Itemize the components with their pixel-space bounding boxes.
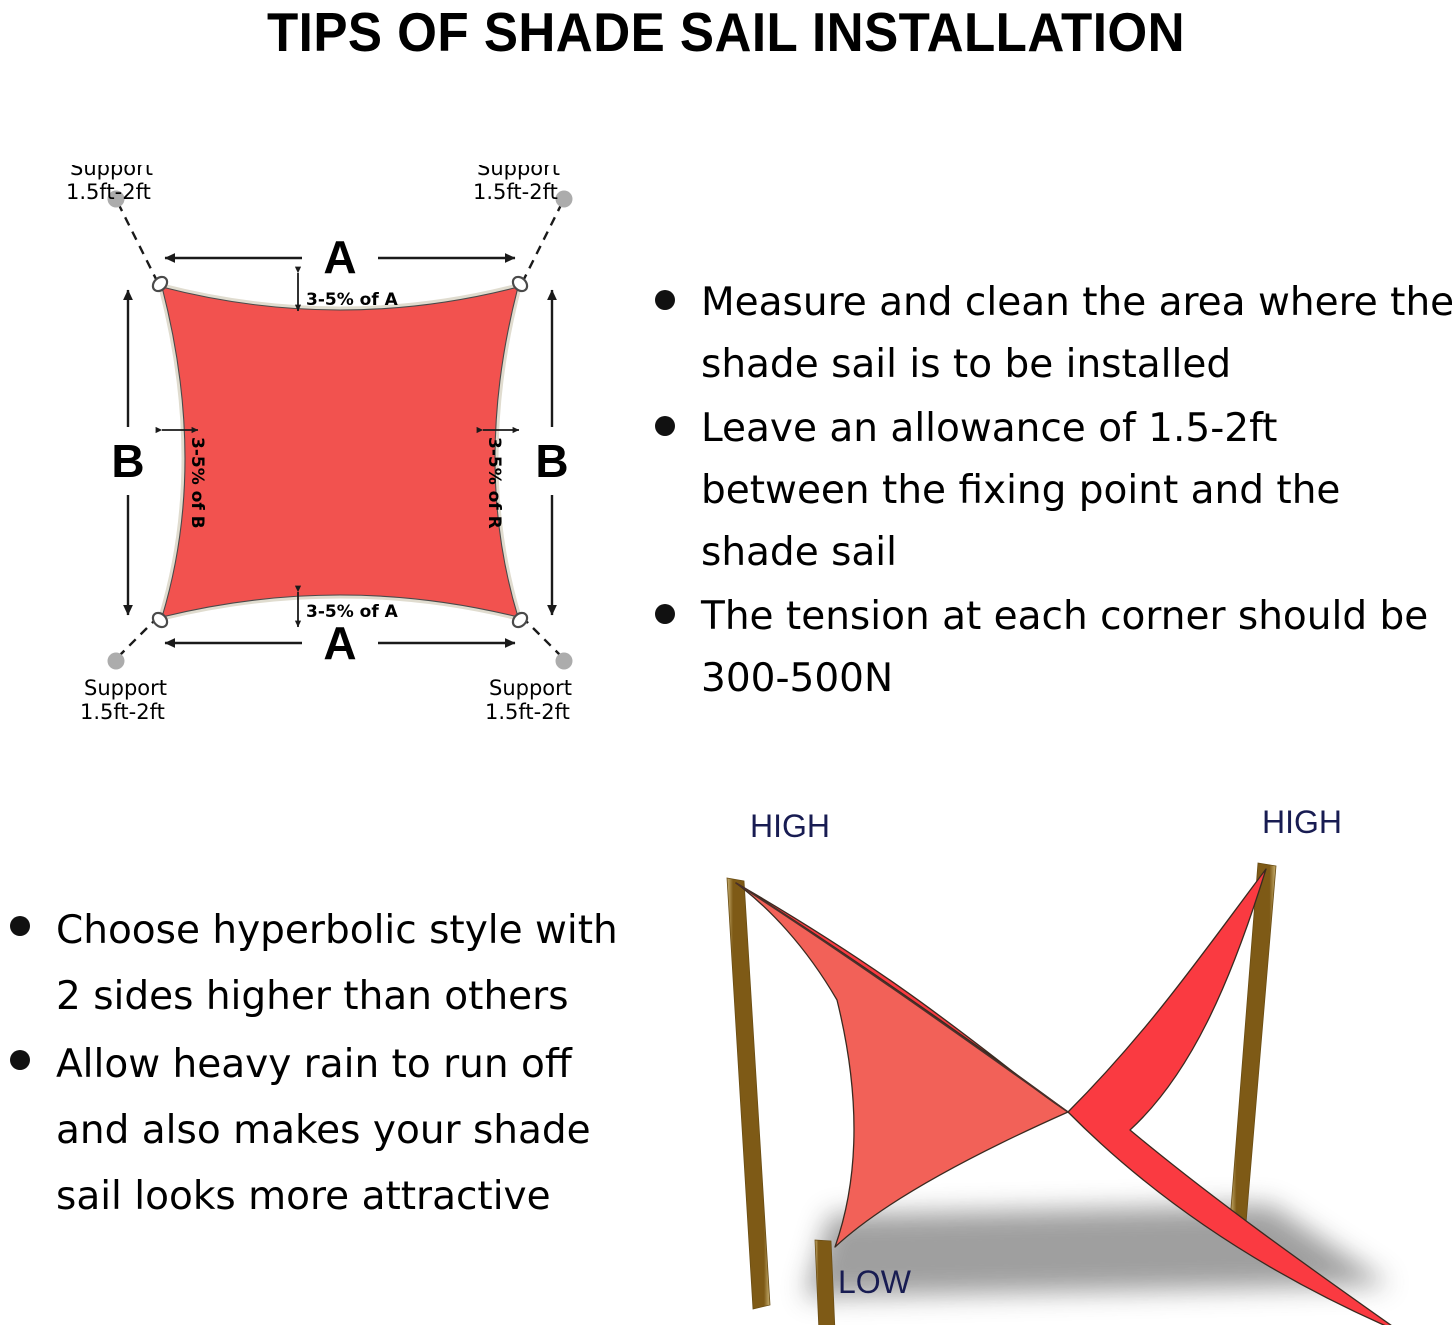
list-item: Leave an allowance of 1.5-2ft between th…: [645, 398, 1452, 584]
anchor-line-bottom-right: [522, 617, 562, 657]
anchor-point-bottom-left: [108, 653, 125, 670]
label-high-right: HIGH: [1262, 804, 1342, 840]
anchor-line-top-left: [118, 203, 158, 283]
anchor-point-top-right: [556, 191, 573, 208]
installation-tips-list: Measure and clean the area where the sha…: [645, 272, 1452, 712]
dimension-b-left-label: B: [111, 435, 144, 487]
dimension-a-top-label: A: [323, 231, 356, 283]
list-item-text: Leave an allowance of 1.5-2ft between th…: [701, 406, 1340, 575]
sail-shape-outline: [162, 287, 518, 617]
list-item: Allow heavy rain to run off and also mak…: [0, 1032, 625, 1230]
sag-left-label: 3-5% of B: [187, 437, 207, 529]
list-item: Measure and clean the area where the sha…: [645, 272, 1452, 396]
support-label-top-right: Support 1.5ft-2ft: [473, 165, 560, 204]
sag-top-label: 3-5% of A: [306, 290, 399, 310]
page-title: TIPS OF SHADE SAIL INSTALLATION: [51, 2, 1401, 62]
dimension-b-right-label: B: [535, 435, 568, 487]
dimension-b-left: B: [111, 290, 144, 615]
support-bottom-right-line1: Support: [489, 676, 572, 700]
sag-right-group: 3-5% of R: [483, 430, 519, 529]
sag-bottom-label: 3-5% of A: [306, 602, 399, 622]
label-high-left: HIGH: [750, 808, 830, 844]
support-label-bottom-left: Support 1.5ft-2ft: [80, 676, 167, 724]
sag-right-label: 3-5% of R: [484, 437, 504, 529]
bullet-icon: [10, 916, 30, 936]
support-top-right-line2: 1.5ft-2ft: [473, 180, 558, 204]
list-item-text: Measure and clean the area where the sha…: [701, 280, 1452, 387]
bullet-icon: [655, 290, 675, 310]
hyperbolic-tips-list: Choose hyperbolic style with 2 sides hig…: [0, 898, 625, 1232]
anchor-line-bottom-left: [118, 617, 158, 657]
sail-lobe-left: [736, 883, 1068, 1247]
dimension-a-bottom: A: [165, 617, 515, 669]
support-top-left-line2: 1.5ft-2ft: [66, 180, 151, 204]
label-low-left: LOW: [838, 1264, 912, 1300]
list-item: The tension at each corner should be 300…: [645, 586, 1452, 710]
support-top-right-line1: Support: [477, 165, 560, 180]
anchor-point-bottom-right: [556, 653, 573, 670]
dimension-a-top: A: [165, 231, 515, 283]
support-bottom-left-line1: Support: [84, 676, 167, 700]
support-bottom-left-line2: 1.5ft-2ft: [80, 700, 165, 724]
bullet-icon: [655, 416, 675, 436]
support-bottom-right-line2: 1.5ft-2ft: [485, 700, 570, 724]
list-item-text: Allow heavy rain to run off and also mak…: [56, 1042, 591, 1219]
list-item-text: The tension at each corner should be 300…: [701, 594, 1428, 701]
support-label-top-left: Support 1.5ft-2ft: [66, 165, 153, 204]
square-sail-diagram: A 3-5% of A A 3-5% of A B 3-5% of B: [40, 165, 640, 735]
bullet-icon: [655, 604, 675, 624]
dimension-b-right: B: [535, 290, 568, 615]
support-top-left-line1: Support: [70, 165, 153, 180]
dimension-a-bottom-label: A: [323, 617, 356, 669]
support-label-bottom-right: Support 1.5ft-2ft: [485, 676, 572, 724]
list-item: Choose hyperbolic style with 2 sides hig…: [0, 898, 625, 1030]
post-high-left: [727, 878, 770, 1309]
bullet-icon: [10, 1050, 30, 1070]
list-item-text: Choose hyperbolic style with 2 sides hig…: [56, 908, 618, 1019]
hyperbolic-sail-diagram: HIGH HIGH LOW LOW: [630, 785, 1452, 1325]
anchor-line-top-right: [522, 203, 562, 283]
